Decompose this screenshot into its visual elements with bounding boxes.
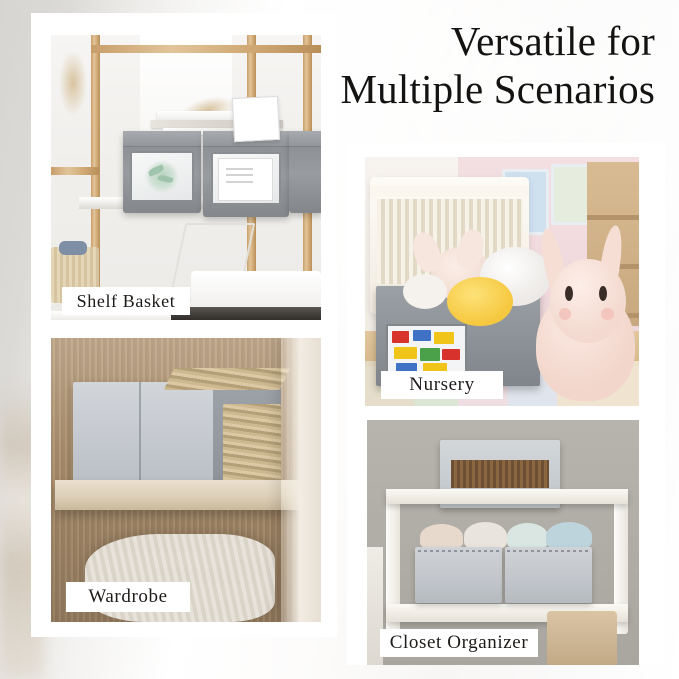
folded-knit-blankets xyxy=(223,404,281,486)
folded-clothes-4 xyxy=(546,522,592,550)
basket-lip-partial xyxy=(289,131,321,147)
caption-nursery-label: Nursery xyxy=(409,374,474,396)
crib-top-rail xyxy=(370,185,529,197)
botanical-print xyxy=(145,160,179,193)
photo-wardrobe xyxy=(51,338,321,622)
headline-line-2: Multiple Scenarios xyxy=(0,66,655,114)
basket-window-right xyxy=(211,152,282,205)
bamboo-rail-small xyxy=(51,167,99,175)
block-yellow xyxy=(434,332,454,343)
folded-clothes-1 xyxy=(420,524,464,549)
caption-shelf-basket: Shelf Basket xyxy=(62,287,190,315)
block-red xyxy=(392,331,409,342)
plush-cloud xyxy=(403,274,447,309)
wardrobe-storage-box xyxy=(73,382,213,488)
caption-closet-organizer-label: Closet Organizer xyxy=(390,632,529,654)
closet-bin-left xyxy=(415,547,502,603)
shelf-basket-partial xyxy=(289,131,321,213)
shelf-basket-right xyxy=(203,131,289,217)
basket-lip-left xyxy=(123,131,201,147)
plush-star-yellow xyxy=(447,277,513,327)
shelf-basket-left xyxy=(123,131,201,213)
closet-bin-top-contents xyxy=(451,460,549,487)
closet-bin-right xyxy=(505,547,592,603)
plush-bunny-large xyxy=(529,232,639,401)
caption-wardrobe: Wardrobe xyxy=(66,582,190,612)
folded-denim xyxy=(59,241,87,255)
folded-clothes-3 xyxy=(507,523,548,550)
infographic-canvas: Versatile for Multiple Scenarios xyxy=(0,0,679,679)
block-red-2 xyxy=(442,349,461,360)
caption-shelf-basket-label: Shelf Basket xyxy=(77,291,176,312)
block-yellow-2 xyxy=(394,347,417,359)
rack-shelf-top xyxy=(386,489,628,504)
bunny-head xyxy=(550,259,626,344)
folded-clothes-2 xyxy=(464,522,508,550)
caption-closet-organizer: Closet Organizer xyxy=(380,629,538,657)
bunny-eye-right xyxy=(599,286,607,301)
bin-stitching-left xyxy=(418,550,500,552)
block-green xyxy=(420,348,440,361)
photo-nursery xyxy=(365,157,639,406)
page-title: Versatile for Multiple Scenarios xyxy=(0,18,679,113)
closet-rack xyxy=(386,489,628,616)
caption-wardrobe-label: Wardrobe xyxy=(88,586,167,608)
bunny-cheek-left xyxy=(559,308,571,320)
wardrobe-curtain xyxy=(281,338,321,622)
blanket-top-edge xyxy=(164,368,291,390)
dark-floor-strip xyxy=(171,307,321,320)
stored-document xyxy=(218,158,273,201)
basket-window-left xyxy=(130,151,194,202)
bunny-cheek-right xyxy=(601,308,613,320)
block-blue xyxy=(413,330,432,340)
lower-shelf-cushion xyxy=(191,271,321,311)
caption-nursery: Nursery xyxy=(381,371,503,399)
box-panel-divider xyxy=(139,382,141,488)
headline-line-1: Versatile for xyxy=(0,18,655,66)
paper-bag xyxy=(547,611,618,665)
bin-stitching-right xyxy=(507,550,589,552)
